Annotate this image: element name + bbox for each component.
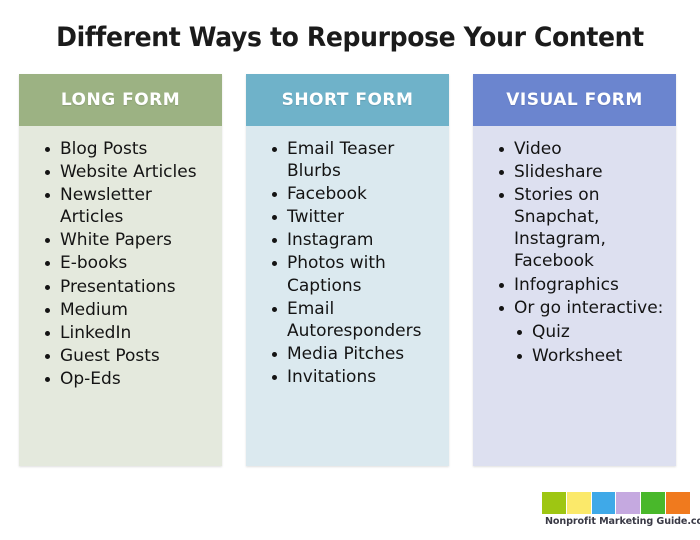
column-visual-form: VISUAL FORM Video Slideshare Stories on … xyxy=(473,74,676,466)
list-item: LinkedIn xyxy=(43,322,216,344)
list-item: Guest Posts xyxy=(43,345,216,367)
list-item: Presentations xyxy=(43,276,216,298)
list-item: White Papers xyxy=(43,229,216,251)
sublist-item: Worksheet xyxy=(514,345,670,367)
list-item: Instagram xyxy=(270,229,443,251)
list-item: Facebook xyxy=(270,183,443,205)
column-short-form: SHORT FORM Email Teaser Blurbs Facebook … xyxy=(246,74,449,466)
logo-swatch xyxy=(666,492,690,514)
page-title: Different Ways to Repurpose Your Content xyxy=(25,22,676,53)
list-item: Photos with Captions xyxy=(270,252,443,296)
column-body-short-form: Email Teaser Blurbs Facebook Twitter Ins… xyxy=(246,126,449,466)
logo-swatch xyxy=(567,492,591,514)
list-item: Blog Posts xyxy=(43,138,216,160)
list-item: Stories on Snapchat, Instagram, Facebook xyxy=(497,184,670,272)
sublist-item: Quiz xyxy=(514,321,670,343)
list-item: Or go interactive: Quiz Worksheet xyxy=(497,297,670,367)
list-item: Twitter xyxy=(270,206,443,228)
list-item: Infographics xyxy=(497,274,670,296)
list-long-form: Blog Posts Website Articles Newsletter A… xyxy=(25,138,216,390)
column-body-long-form: Blog Posts Website Articles Newsletter A… xyxy=(19,126,222,466)
list-item: Email Teaser Blurbs xyxy=(270,138,443,182)
list-item: Invitations xyxy=(270,366,443,388)
sublist-interactive: Quiz Worksheet xyxy=(514,321,670,367)
list-item: Video xyxy=(497,138,670,160)
list-item: Medium xyxy=(43,299,216,321)
list-visual-form: Video Slideshare Stories on Snapchat, In… xyxy=(479,138,670,367)
list-item-label: Or go interactive: xyxy=(514,298,663,318)
list-item: Email Autoresponders xyxy=(270,298,443,342)
column-header-visual-form: VISUAL FORM xyxy=(473,74,676,126)
logo-swatch xyxy=(616,492,640,514)
list-item: Slideshare xyxy=(497,161,670,183)
brand-logo: Nonprofit Marketing Guide.com xyxy=(542,492,692,527)
column-body-visual-form: Video Slideshare Stories on Snapchat, In… xyxy=(473,126,676,466)
column-header-long-form: LONG FORM xyxy=(19,74,222,126)
list-item: Op-Eds xyxy=(43,368,216,390)
logo-text: Nonprofit Marketing Guide.com xyxy=(545,516,687,527)
logo-swatch xyxy=(641,492,665,514)
logo-swatch xyxy=(542,492,566,514)
logo-swatches xyxy=(542,492,690,514)
column-long-form: LONG FORM Blog Posts Website Articles Ne… xyxy=(19,74,222,466)
columns-container: LONG FORM Blog Posts Website Articles Ne… xyxy=(19,74,681,466)
list-item: Website Articles xyxy=(43,161,216,183)
column-header-short-form: SHORT FORM xyxy=(246,74,449,126)
list-item: E-books xyxy=(43,252,216,274)
logo-swatch xyxy=(592,492,616,514)
list-item: Newsletter Articles xyxy=(43,184,216,228)
list-item: Media Pitches xyxy=(270,343,443,365)
list-short-form: Email Teaser Blurbs Facebook Twitter Ins… xyxy=(252,138,443,388)
infographic-page: Different Ways to Repurpose Your Content… xyxy=(0,0,700,540)
